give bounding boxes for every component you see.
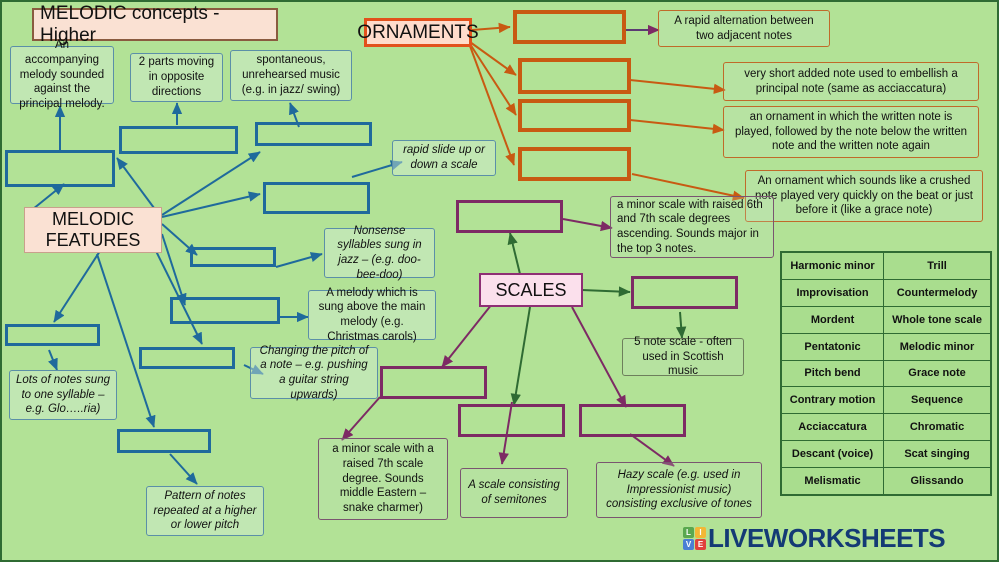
hint-pitch-bend: Changing the pitch of a note – e.g. push… bbox=[250, 347, 378, 399]
worksheet-canvas: MELODIC concepts - Higher MELODIC FEATUR… bbox=[0, 0, 999, 562]
hint-pentatonic: 5 note scale - often used in Scottish mu… bbox=[622, 338, 744, 376]
word-bank-cell[interactable]: Acciaccatura bbox=[781, 414, 884, 441]
word-bank-cell[interactable]: Improvisation bbox=[781, 280, 884, 307]
hub-melodic-features: MELODIC FEATURES bbox=[24, 207, 162, 253]
hint-mordent: an ornament in which the written note is… bbox=[723, 106, 979, 158]
word-bank-cell[interactable]: Scat singing bbox=[884, 440, 991, 467]
hint-harmonic-minor: a minor scale with a raised 7th scale de… bbox=[318, 438, 448, 520]
word-bank-cell[interactable]: Sequence bbox=[884, 387, 991, 414]
word-bank-cell[interactable]: Harmonic minor bbox=[781, 252, 884, 280]
logo-wordmark: LIVEWORKSHEETS bbox=[708, 523, 945, 554]
word-bank-cell[interactable]: Glissando bbox=[884, 467, 991, 495]
hint-acciaccatura: An ornament which sounds like a crushed … bbox=[745, 170, 983, 222]
hint-melodic-minor: a minor scale with raised 6th and 7th sc… bbox=[610, 196, 774, 258]
hint-grace-note: very short added note used to embellish … bbox=[723, 62, 979, 101]
page-title: MELODIC concepts - Higher bbox=[32, 8, 278, 41]
logo-letter-e: E bbox=[695, 539, 706, 550]
logo-letter-i: I bbox=[695, 527, 706, 538]
answer-box-sequence[interactable] bbox=[117, 429, 211, 453]
answer-box-pitch-bend[interactable] bbox=[139, 347, 235, 369]
hint-countermelody: An accompanying melody sounded against t… bbox=[10, 46, 114, 104]
logo-letter-l: L bbox=[683, 527, 694, 538]
hint-scat-singing: Nonsense syllables sung in jazz – (e.g. … bbox=[324, 228, 435, 278]
hint-contrary-motion: 2 parts moving in opposite directions bbox=[130, 53, 223, 102]
answer-box-mordent[interactable] bbox=[518, 99, 631, 132]
word-bank-row: MordentWhole tone scale bbox=[781, 307, 991, 334]
word-bank-cell[interactable]: Pitch bend bbox=[781, 360, 884, 387]
hint-melismatic: Lots of notes sung to one syllable – e.g… bbox=[9, 370, 117, 420]
word-bank-row: PentatonicMelodic minor bbox=[781, 333, 991, 360]
hint-improvisation: spontaneous, unrehearsed music (e.g. in … bbox=[230, 50, 352, 101]
answer-box-harmonic-minor[interactable] bbox=[380, 366, 487, 399]
word-bank-cell[interactable]: Whole tone scale bbox=[884, 307, 991, 334]
word-bank-cell[interactable]: Countermelody bbox=[884, 280, 991, 307]
answer-box-pentatonic[interactable] bbox=[631, 276, 738, 309]
hint-trill: A rapid alternation between two adjacent… bbox=[658, 10, 830, 47]
logo-letter-v: V bbox=[683, 539, 694, 550]
word-bank-cell[interactable]: Melodic minor bbox=[884, 333, 991, 360]
answer-box-chromatic[interactable] bbox=[458, 404, 565, 437]
word-bank-cell[interactable]: Pentatonic bbox=[781, 333, 884, 360]
answer-box-descant[interactable] bbox=[170, 297, 280, 324]
word-bank-row: Harmonic minorTrill bbox=[781, 252, 991, 280]
word-bank-cell[interactable]: Chromatic bbox=[884, 414, 991, 441]
answer-box-melismatic[interactable] bbox=[5, 324, 100, 346]
word-bank-row: ImprovisationCountermelody bbox=[781, 280, 991, 307]
word-bank-cell[interactable]: Melismatic bbox=[781, 467, 884, 495]
answer-box-countermelody[interactable] bbox=[5, 150, 115, 187]
answer-box-scat-singing[interactable] bbox=[190, 247, 276, 267]
answer-box-contrary-motion[interactable] bbox=[119, 126, 238, 154]
answer-box-trill[interactable] bbox=[513, 10, 626, 44]
word-bank-row: AcciaccaturaChromatic bbox=[781, 414, 991, 441]
hub-scales: SCALES bbox=[479, 273, 583, 307]
hint-descant: A melody which is sung above the main me… bbox=[308, 290, 436, 340]
word-bank-cell[interactable]: Contrary motion bbox=[781, 387, 884, 414]
hint-chromatic: A scale consisting of semitones bbox=[460, 468, 568, 518]
word-bank-row: Descant (voice)Scat singing bbox=[781, 440, 991, 467]
hint-whole-tone: Hazy scale (e.g. used in Impressionist m… bbox=[596, 462, 762, 518]
liveworksheets-logo: LIVE LIVEWORKSHEETS bbox=[683, 523, 945, 554]
hint-glissando: rapid slide up or down a scale bbox=[392, 140, 496, 176]
answer-box-grace-note[interactable] bbox=[518, 58, 631, 94]
word-bank-body: Harmonic minorTrillImprovisationCounterm… bbox=[781, 252, 991, 495]
answer-box-acciaccatura[interactable] bbox=[518, 147, 631, 181]
word-bank-row: MelismaticGlissando bbox=[781, 467, 991, 495]
logo-letter-grid: LIVE bbox=[683, 527, 706, 550]
answer-box-improvisation[interactable] bbox=[255, 122, 372, 146]
hint-sequence: Pattern of notes repeated at a higher or… bbox=[146, 486, 264, 536]
word-bank-cell[interactable]: Mordent bbox=[781, 307, 884, 334]
word-bank-row: Contrary motionSequence bbox=[781, 387, 991, 414]
word-bank-row: Pitch bendGrace note bbox=[781, 360, 991, 387]
word-bank: Harmonic minorTrillImprovisationCounterm… bbox=[780, 251, 992, 496]
hub-ornaments: ORNAMENTS bbox=[364, 18, 472, 47]
word-bank-cell[interactable]: Trill bbox=[884, 252, 991, 280]
word-bank-cell[interactable]: Descant (voice) bbox=[781, 440, 884, 467]
word-bank-cell[interactable]: Grace note bbox=[884, 360, 991, 387]
answer-box-glissando[interactable] bbox=[263, 182, 370, 214]
answer-box-melodic-minor[interactable] bbox=[456, 200, 563, 233]
answer-box-whole-tone[interactable] bbox=[579, 404, 686, 437]
